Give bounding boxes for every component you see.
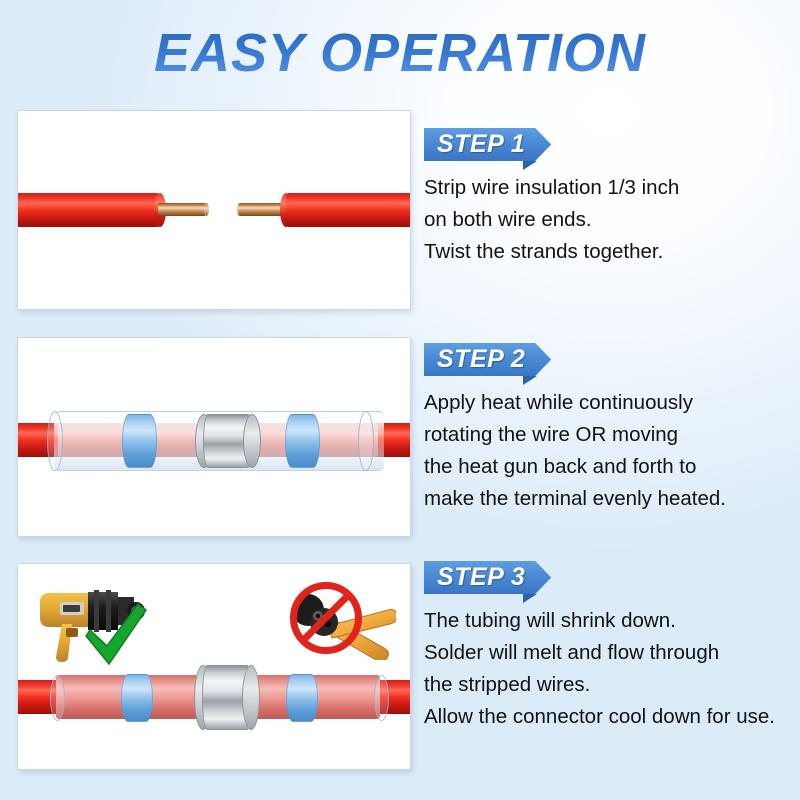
step-2-badge-fold bbox=[523, 376, 537, 385]
blue-adhesive-ring-right bbox=[285, 414, 320, 468]
step-3-line-3: the stripped wires. bbox=[424, 669, 784, 701]
page-title-container: EASY OPERATION bbox=[0, 20, 800, 86]
shrunk-tube-rim-right bbox=[374, 675, 389, 721]
solder-ring-face-right bbox=[243, 414, 261, 468]
tube-rim-left bbox=[47, 411, 63, 471]
solder-ring-face-right bbox=[242, 665, 260, 730]
step-3-line-2: Solder will melt and flow through bbox=[424, 637, 784, 669]
step-2-line-2: rotating the wire OR moving bbox=[424, 419, 784, 451]
blue-adhesive-ring-right bbox=[286, 674, 318, 722]
red-wire-right bbox=[286, 193, 411, 227]
step-3-line-1: The tubing will shrink down. bbox=[424, 605, 784, 637]
step-2-badge: STEP 2 bbox=[424, 343, 551, 376]
step-3-illustration-panel bbox=[17, 563, 411, 770]
step-2-line-4: make the terminal evenly heated. bbox=[424, 483, 784, 515]
step-1-line-2: on both wire ends. bbox=[424, 204, 784, 236]
step-3-badge-fold bbox=[523, 594, 537, 603]
step-3-text-block: STEP 3 The tubing will shrink down. Sold… bbox=[424, 561, 784, 733]
green-check-mark bbox=[80, 602, 150, 679]
step-1-line-3: Twist the strands together. bbox=[424, 236, 784, 268]
copper-strand-left-tip bbox=[204, 203, 209, 216]
step-1-lines: Strip wire insulation 1/3 inch on both w… bbox=[424, 172, 784, 268]
step-1-line-1: Strip wire insulation 1/3 inch bbox=[424, 172, 784, 204]
step-3-badge-row: STEP 3 bbox=[424, 561, 784, 597]
tube-rim-right bbox=[358, 411, 374, 471]
step-1-badge-fold bbox=[523, 161, 537, 170]
step-2-line-1: Apply heat while continuously bbox=[424, 387, 784, 419]
shrunk-tube-rim-left bbox=[50, 675, 65, 721]
step-1-text-block: STEP 1 Strip wire insulation 1/3 inch on… bbox=[424, 128, 784, 268]
step-2-line-3: the heat gun back and forth to bbox=[424, 451, 784, 483]
step-2-text-block: STEP 2 Apply heat while continuously rot… bbox=[424, 343, 784, 515]
step-2-illustration-panel bbox=[17, 337, 411, 537]
copper-strand-left bbox=[158, 203, 206, 216]
red-wire-left bbox=[17, 193, 160, 227]
step-1-illustration-panel bbox=[17, 110, 411, 310]
step-3-line-4: Allow the connector cool down for use. bbox=[424, 701, 784, 733]
step-3-lines: The tubing will shrink down. Solder will… bbox=[424, 605, 784, 733]
blue-adhesive-ring-left bbox=[121, 674, 153, 722]
blue-adhesive-ring-left bbox=[122, 414, 157, 468]
step-1-badge-row: STEP 1 bbox=[424, 128, 784, 164]
step-2-badge-row: STEP 2 bbox=[424, 343, 784, 379]
page-title: EASY OPERATION bbox=[154, 22, 646, 84]
step-3-badge: STEP 3 bbox=[424, 561, 551, 594]
instruction-graphic: EASY OPERATION bbox=[0, 0, 800, 800]
step-2-lines: Apply heat while continuously rotating t… bbox=[424, 387, 784, 515]
step-1-badge: STEP 1 bbox=[424, 128, 551, 161]
